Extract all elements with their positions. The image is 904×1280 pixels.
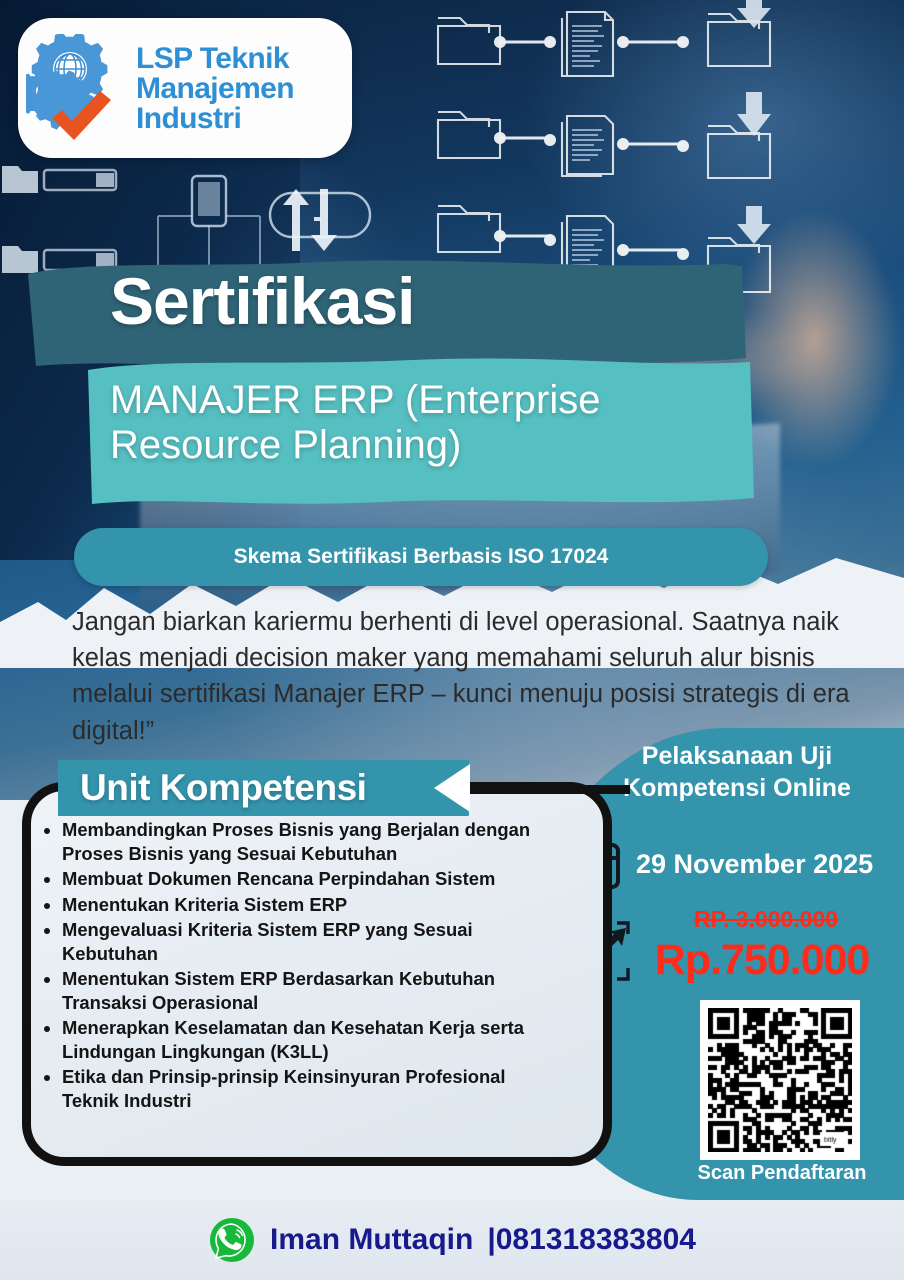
contact-name: Iman Muttaqin: [270, 1223, 473, 1257]
iso-badge-label: Skema Sertifikasi Berbasis ISO 17024: [234, 545, 609, 569]
logo-line-2: Manajemen: [136, 74, 294, 104]
exam-date: 29 November 2025: [636, 849, 873, 880]
scan-registration-label: Scan Pendaftaran: [660, 1162, 904, 1185]
exam-panel-title: Pelaksanaan Uji Kompetensi Online: [570, 740, 904, 804]
list-item: Menerapkan Keselamatan dan Kesehatan Ker…: [62, 1016, 536, 1063]
list-item: Membandingkan Proses Bisnis yang Berjala…: [62, 818, 536, 865]
exam-panel-title-line1: Pelaksanaan Uji: [570, 740, 904, 772]
brand-logo-card: LSP Teknik Manajemen Industri: [18, 18, 352, 158]
list-item: Etika dan Prinsip-prinsip Keinsinyuran P…: [62, 1065, 536, 1112]
contact-footer: Iman Muttaqin |081318383804: [0, 1200, 904, 1280]
logo-line-1: LSP Teknik: [136, 44, 294, 74]
brand-logo-text: LSP Teknik Manajemen Industri: [136, 42, 294, 134]
whatsapp-icon[interactable]: [208, 1216, 256, 1264]
logo-line-3: Industri: [136, 104, 294, 134]
list-item: Membuat Dokumen Rencana Perpindahan Sist…: [62, 867, 536, 891]
competency-list: Membandingkan Proses Bisnis yang Berjala…: [36, 818, 536, 1115]
iso-badge: Skema Sertifikasi Berbasis ISO 17024: [74, 528, 768, 586]
unit-kompetensi-heading: Unit Kompetensi: [58, 762, 458, 814]
list-item: Mengevaluasi Kriteria Sistem ERP yang Se…: [62, 918, 536, 965]
page-title: Sertifikasi: [110, 268, 415, 334]
qr-code-registration[interactable]: [700, 1000, 860, 1160]
price-new: Rp.750.000: [620, 936, 904, 985]
exam-date-row: 29 November 2025: [566, 836, 904, 892]
qr-code-canvas[interactable]: [708, 1008, 852, 1152]
list-item: Menentukan Kriteria Sistem ERP: [62, 893, 536, 917]
list-item: Menentukan Sistem ERP Berdasarkan Kebutu…: [62, 967, 536, 1014]
price-old: RP. 3.000.000: [628, 906, 904, 933]
poster-root: LSP Teknik Manajemen Industri Sertifikas…: [0, 0, 904, 1280]
page-subtitle: MANAJER ERP (Enterprise Resource Plannin…: [110, 378, 750, 468]
gear-globe-check-icon: [26, 34, 130, 142]
contact-phone[interactable]: |081318383804: [487, 1223, 696, 1257]
